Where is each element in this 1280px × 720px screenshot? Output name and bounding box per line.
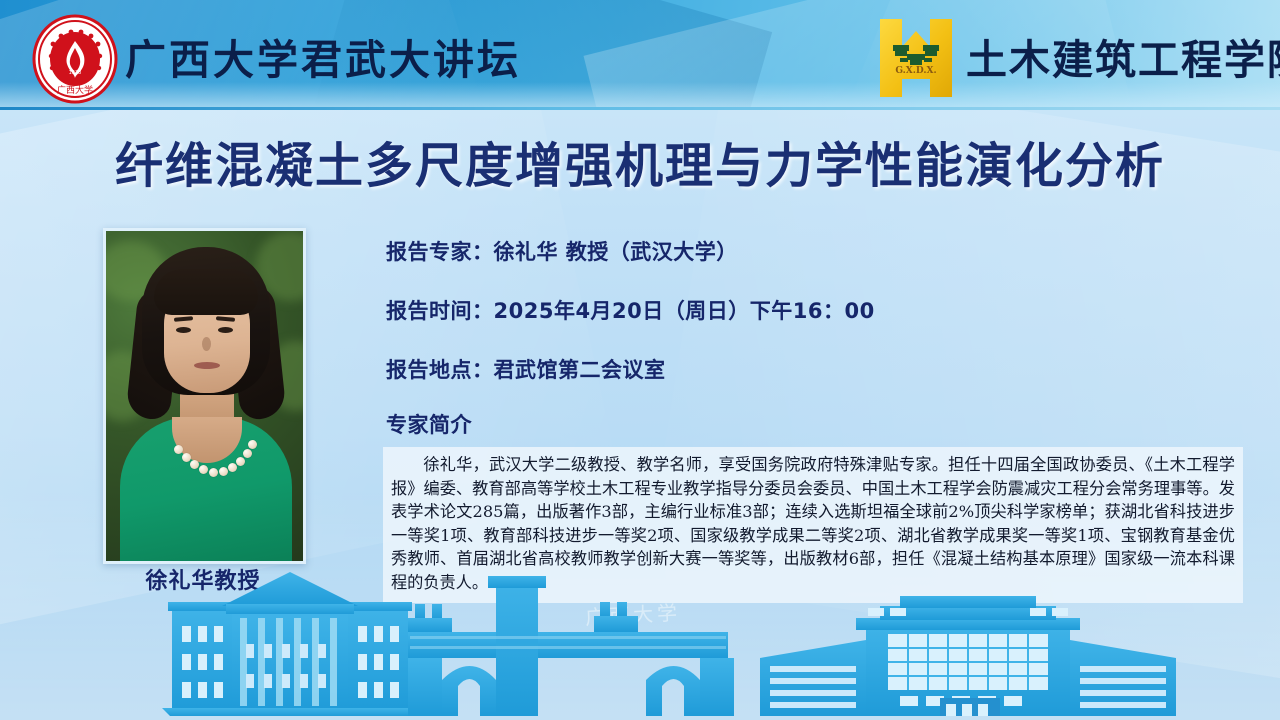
speaker-photo-caption: 徐礼华教授: [103, 563, 303, 595]
poster-root: 广西大学 1928 广西大学君武大讲坛: [0, 0, 1280, 720]
header-facet-glow: [0, 82, 1280, 110]
info-line-venue: 报告地点：君武馆第二会议室: [386, 354, 1246, 384]
college-logo-icon: G.X.D.X.: [876, 17, 956, 99]
seal-text: 广西大学: [57, 84, 93, 96]
page-title: 纤维混凝土多尺度增强机理与力学性能演化分析: [0, 126, 1280, 196]
lecture-info-block: 报告专家：徐礼华 教授（武汉大学） 报告时间：2025年4月20日（周日）下午1…: [386, 236, 1246, 413]
forum-title: 广西大学君武大讲坛: [125, 26, 521, 86]
college-title: 土木建筑工程学院: [966, 26, 1280, 86]
gxu-university-seal-icon: 广西大学 1928: [31, 14, 119, 104]
bio-text: 徐礼华，武汉大学二级教授、教学名师，享受国务院政府特殊津贴专家。担任十四届全国政…: [391, 453, 1235, 595]
bio-heading: 专家简介: [386, 409, 472, 439]
info-line-speaker: 报告专家：徐礼华 教授（武汉大学）: [386, 236, 1246, 266]
modern-building: [760, 596, 1176, 716]
svg-text:1928: 1928: [69, 70, 82, 76]
background-watermark: 广西大学: [584, 597, 681, 631]
header-underline: [0, 107, 1280, 110]
speaker-photo: [103, 228, 306, 564]
bio-box: 徐礼华，武汉大学二级教授、教学名师，享受国务院政府特殊津贴专家。担任十四届全国政…: [383, 447, 1243, 603]
college-logo-text: G.X.D.X.: [895, 66, 936, 76]
info-line-time: 报告时间：2025年4月20日（周日）下午16：00: [386, 295, 1246, 325]
